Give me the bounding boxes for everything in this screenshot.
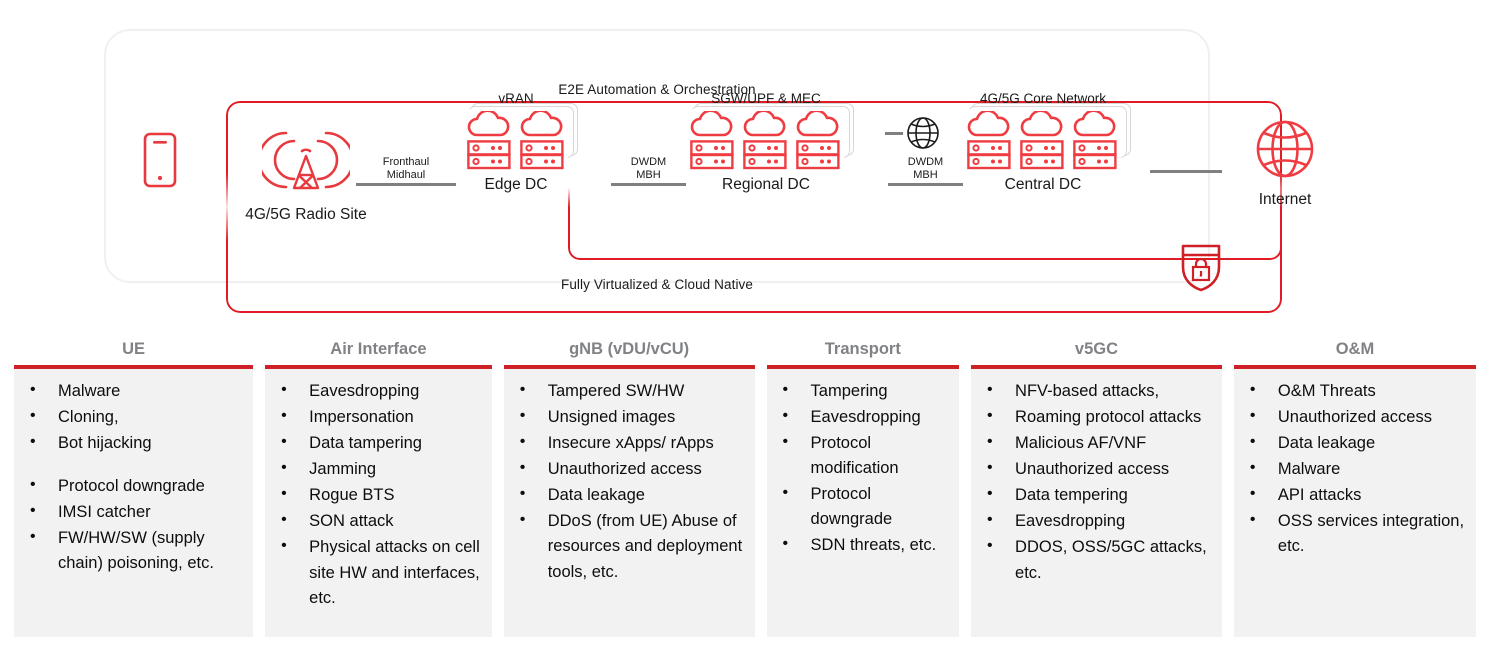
list-item: O&M Threats [1244,379,1468,404]
node-caption-radio-site: 4G/5G Radio Site [226,206,386,224]
shield-lock-icon [1180,243,1222,298]
mobile-phone-icon [143,175,177,192]
cloud-server-stack-regional [688,109,844,170]
list-item: SON attack [275,509,484,534]
cloud-server-stack-central [965,109,1121,170]
cloud-server-stack-edge [465,109,568,170]
list-item: Data tampering [275,431,484,456]
slide-root: E2E Automation & Orchestration Fully Vir… [0,0,1490,648]
node-ue [130,132,190,193]
list-item: Unauthorized access [1244,405,1468,430]
cloud-server-icon [1020,111,1064,170]
threat-column-body: O&M Threats Unauthorized access Data lea… [1234,369,1476,637]
list-item: Unauthorized access [514,457,747,482]
list-item: Protocol modification [777,431,952,481]
threat-columns: UE Malware Cloning, Bot hijacking Protoc… [14,340,1476,637]
list-item: DDOS, OSS/5GC attacks, etc. [981,535,1214,585]
cloud-server-icon [690,111,734,170]
threat-column-gnb: gNB (vDU/vCU) Tampered SW/HW Unsigned im… [504,340,755,637]
threat-column-body: Eavesdropping Impersonation Data tamperi… [265,369,492,637]
node-caption-regional-dc: Regional DC [651,176,881,194]
list-item: Jamming [275,457,484,482]
list-item: Insecure xApps/ rApps [514,431,747,456]
threat-column-body: Tampered SW/HW Unsigned images Insecure … [504,369,755,637]
threat-column-header: Air Interface [265,340,492,365]
fully-virtualized-label: Fully Virtualized & Cloud Native [106,277,1208,292]
node-caption-internet: Internet [1225,191,1345,209]
list-item: Tampering [777,379,952,404]
node-internet: Internet [1225,118,1345,209]
threat-column-air-interface: Air Interface Eavesdropping Impersonatio… [265,340,492,637]
cloud-server-icon [1073,111,1117,170]
list-item: Protocol downgrade [24,474,245,499]
node-regional-dc: Regional DC [651,109,881,194]
list-item: NFV-based attacks, [981,379,1214,404]
list-item: Impersonation [275,405,484,430]
threat-column-body: Malware Cloning, Bot hijacking Protocol … [14,369,253,637]
internet-connector-line [1150,170,1222,173]
threat-column-header: O&M [1234,340,1476,365]
globe-icon [1254,167,1316,184]
list-item: Malware [1244,457,1468,482]
cloud-server-icon [967,111,1011,170]
list-item: OSS services integration, etc. [1244,509,1468,559]
list-item: Cloning, [24,405,245,430]
threat-column-v5gc: v5GC NFV-based attacks, Roaming protocol… [971,340,1222,637]
list-item: Eavesdropping [275,379,484,404]
cloud-server-icon [743,111,787,170]
threat-column-header: UE [14,340,253,365]
cloud-server-icon [796,111,840,170]
list-item: Malware [24,379,245,404]
list-item: SDN threats, etc. [777,533,952,558]
list-item: Rogue BTS [275,483,484,508]
threat-column-header: v5GC [971,340,1222,365]
list-item: Data tempering [981,483,1214,508]
list-item: API attacks [1244,483,1468,508]
list-spacer [24,457,245,474]
cloud-server-icon [467,111,511,170]
list-item: Physical attacks on cell site HW and int… [275,535,484,610]
list-item: DDoS (from UE) Abuse of resources and de… [514,509,747,584]
list-item: Unsigned images [514,405,747,430]
threat-column-om: O&M O&M Threats Unauthorized access Data… [1234,340,1476,637]
cloud-server-icon [520,111,564,170]
radio-tower-icon [262,182,350,199]
list-item: FW/HW/SW (supply chain) poisoning, etc. [24,526,245,576]
threat-column-body: NFV-based attacks, Roaming protocol atta… [971,369,1222,637]
threat-column-header: gNB (vDU/vCU) [504,340,755,365]
list-item: Eavesdropping [981,509,1214,534]
list-item: Data leakage [1244,431,1468,456]
node-caption-edge-dc: Edge DC [436,176,596,194]
list-item: Unauthorized access [981,457,1214,482]
mec-globe-connector [885,132,903,135]
list-item: Roaming protocol attacks [981,405,1214,430]
list-item: IMSI catcher [24,500,245,525]
list-item: Protocol downgrade [777,482,952,532]
architecture-card: E2E Automation & Orchestration Fully Vir… [104,29,1210,283]
list-item: Malicious AF/VNF [981,431,1214,456]
node-edge-dc: Edge DC [436,109,596,194]
threat-column-body: Tampering Eavesdropping Protocol modific… [767,369,960,637]
threat-column-header: Transport [767,340,960,365]
list-item: Bot hijacking [24,431,245,456]
threat-column-ue: UE Malware Cloning, Bot hijacking Protoc… [14,340,253,637]
threat-column-transport: Transport Tampering Eavesdropping Protoc… [767,340,960,637]
list-item: Data leakage [514,483,747,508]
list-item: Eavesdropping [777,405,952,430]
list-item: Tampered SW/HW [514,379,747,404]
node-central-dc: Central DC [928,109,1158,194]
node-caption-central-dc: Central DC [928,176,1158,194]
